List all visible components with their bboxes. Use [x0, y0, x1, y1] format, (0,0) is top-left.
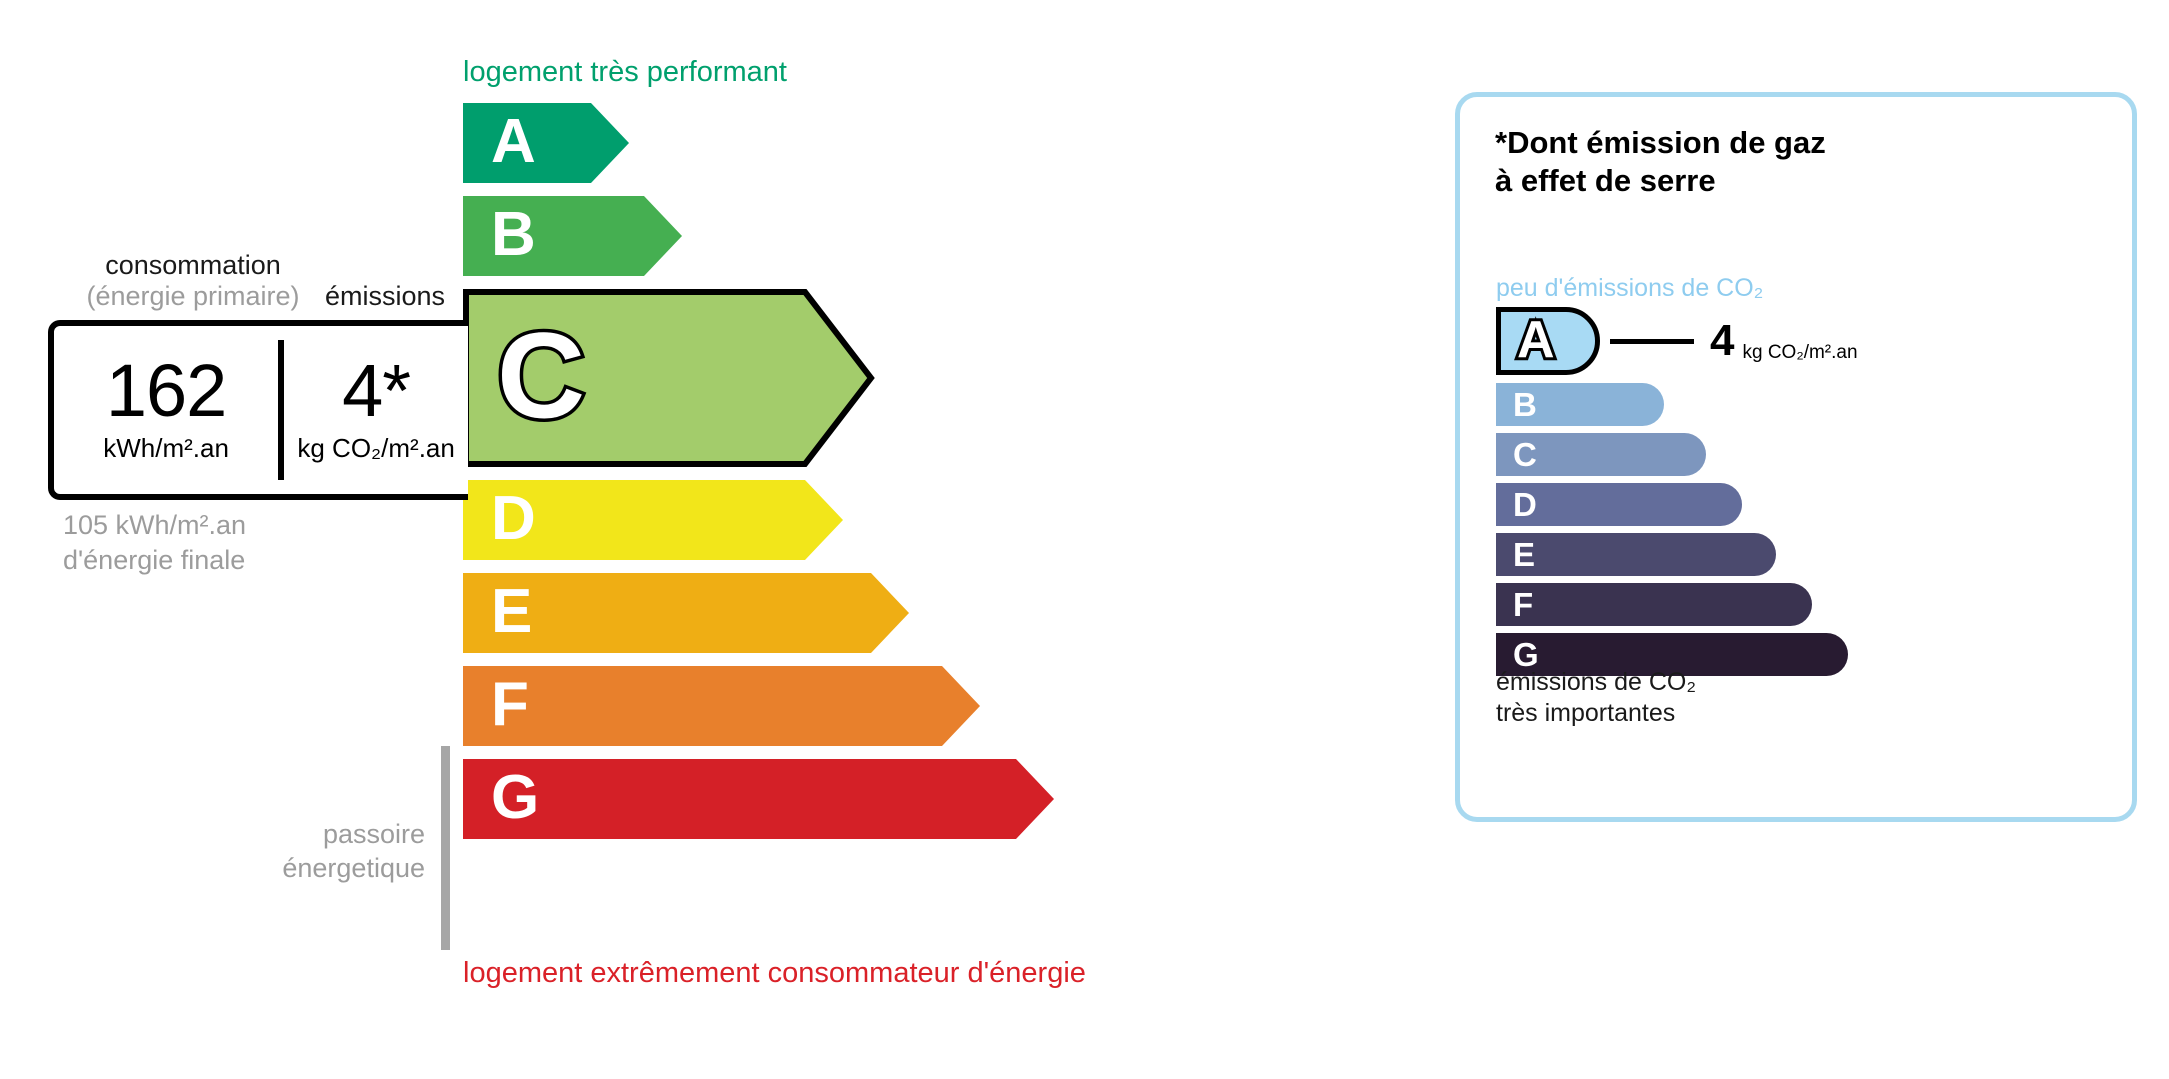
ges-bar-letter-D: D: [1513, 487, 1537, 520]
energy-bar-letter-C: C: [497, 315, 585, 437]
final-energy-note: 105 kWh/m².an d'énergie finale: [63, 508, 246, 578]
energy-bar-row-G[interactable]: G: [463, 759, 1058, 839]
energy-bar-G: G: [463, 759, 1058, 839]
energy-bar-A: A: [463, 103, 1058, 183]
emissions-label: émissions: [305, 281, 465, 312]
consumption-value: 162: [106, 356, 226, 426]
passoire-label: passoire énergetique: [200, 818, 425, 886]
consumption-value-cell: 162 kWh/m².an: [54, 326, 278, 494]
energy-bar-row-A[interactable]: A: [463, 103, 1058, 183]
energy-bar-letter-G: G: [491, 767, 539, 829]
energy-bar-letter-D: D: [491, 488, 536, 550]
ges-value-callout: 4kg CO₂/m².an: [1610, 307, 1858, 375]
ges-title-line2: à effet de serre: [1495, 163, 1716, 198]
passoire-line2: énergetique: [282, 853, 425, 883]
ges-bottom-caption: émissions de CO₂ très importantes: [1496, 667, 1696, 728]
energy-bar-row-B[interactable]: B: [463, 196, 1058, 276]
energy-bottom-caption: logement extrêmement consommateur d'éner…: [463, 957, 1086, 990]
ges-bar-C: C: [1496, 433, 1706, 476]
ges-title-line1: *Dont émission de gaz: [1495, 125, 1826, 160]
energy-bar-E: E: [463, 573, 1058, 653]
energy-bar-letter-A: A: [491, 111, 536, 173]
ges-bar-letter-B: B: [1513, 387, 1537, 420]
ges-bar-letter-C: C: [1513, 437, 1537, 470]
emissions-value-cell: 4* kg CO₂/m².an: [284, 326, 468, 494]
ges-leader-line: [1610, 339, 1694, 344]
energy-bar-row-D[interactable]: D: [463, 480, 1058, 560]
energy-bar-row-E[interactable]: E: [463, 573, 1058, 653]
energy-bar-D: D: [463, 480, 1058, 560]
energy-top-caption: logement très performant: [463, 56, 787, 89]
consumption-label-sub: (énergie primaire): [86, 281, 299, 311]
ges-bar-letter-G: G: [1513, 637, 1539, 670]
energy-bar-C: C: [463, 289, 1058, 467]
energy-bar-letter-B: B: [491, 204, 536, 266]
energy-bar-B: B: [463, 196, 1058, 276]
emissions-value: 4*: [342, 356, 410, 426]
energy-bar-row-C[interactable]: C: [463, 289, 1058, 467]
dpe-diagram: logement très performant ABCDEFG consomm…: [0, 0, 2169, 1079]
energy-performance-panel: logement très performant ABCDEFG consomm…: [0, 0, 1400, 1079]
energy-bar-letter-E: E: [491, 581, 532, 643]
energy-bar-F: F: [463, 666, 1058, 746]
energy-bar-letter-F: F: [491, 674, 529, 736]
ges-bar-letter-F: F: [1513, 587, 1533, 620]
final-energy-line2: d'énergie finale: [63, 545, 245, 575]
ges-bottom-caption-line1: émissions de CO₂: [1496, 668, 1696, 696]
final-energy-line1: 105 kWh/m².an: [63, 510, 246, 540]
passoire-line1: passoire: [323, 819, 425, 849]
ges-bar-F: F: [1496, 583, 1812, 626]
value-box: 162 kWh/m².an 4* kg CO₂/m².an: [48, 320, 468, 500]
emissions-unit: kg CO₂/m².an: [297, 433, 454, 464]
ges-bar-D: D: [1496, 483, 1742, 526]
energy-bar-chart: ABCDEFG: [463, 103, 1058, 852]
passoire-indicator-bar: [441, 746, 450, 950]
ges-bar-E: E: [1496, 533, 1776, 576]
consumption-unit: kWh/m².an: [103, 433, 229, 464]
consumption-label: consommation (énergie primaire): [68, 250, 318, 312]
ges-title: *Dont émission de gaz à effet de serre: [1495, 124, 1826, 200]
ges-bar-B: B: [1496, 383, 1664, 426]
ges-bar-letter-A: A: [1517, 314, 1555, 366]
ges-bar-A: A: [1496, 307, 1600, 375]
ges-bottom-caption-line2: très importantes: [1496, 699, 1675, 727]
energy-bar-row-F[interactable]: F: [463, 666, 1058, 746]
ges-bar-letter-E: E: [1513, 537, 1535, 570]
ges-value-unit: kg CO₂/m².an: [1742, 342, 1857, 375]
consumption-label-main: consommation: [105, 250, 281, 280]
ges-top-caption: peu d'émissions de CO₂: [1496, 274, 1763, 303]
ges-value: 4: [1710, 319, 1734, 363]
ges-panel: *Dont émission de gaz à effet de serre p…: [1455, 92, 2137, 822]
